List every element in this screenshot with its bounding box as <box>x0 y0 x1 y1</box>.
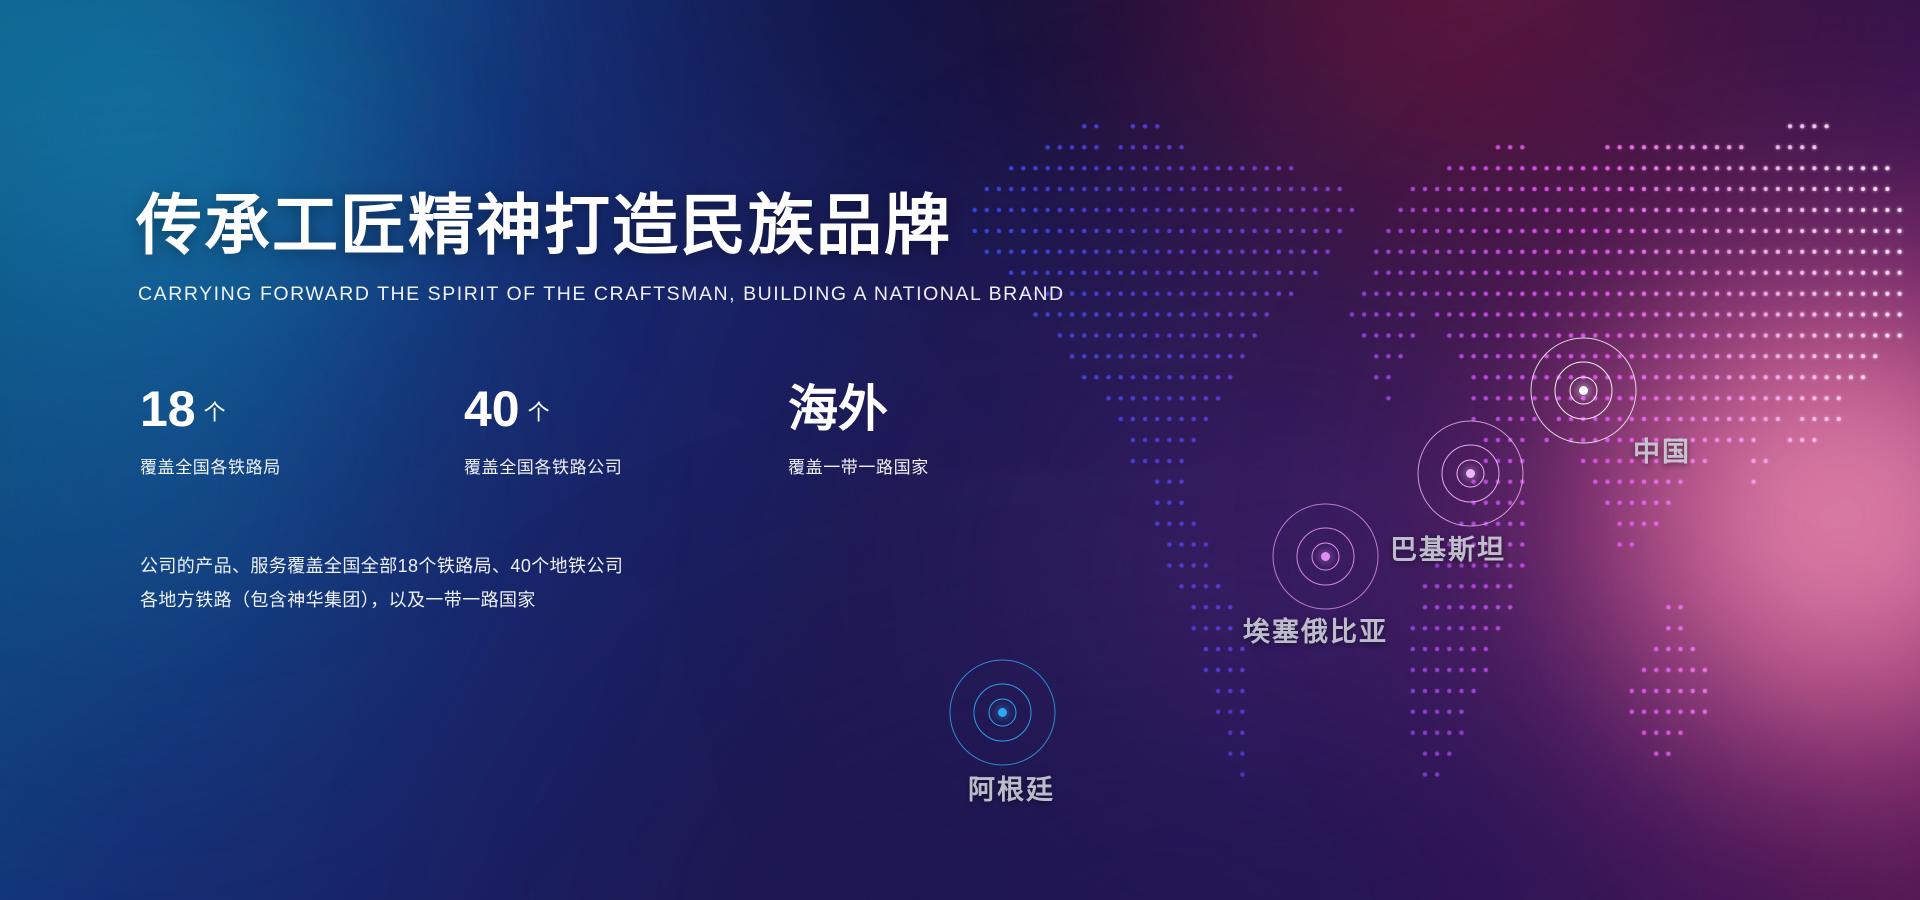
page-subtitle: CARRYING FORWARD THE SPIRIT OF THE CRAFT… <box>138 283 996 306</box>
stat-item: 海外 覆盖一带一路国家 <box>788 384 929 478</box>
stat-unit: 个 <box>528 395 550 427</box>
stat-value-group: 40 个 <box>464 384 694 438</box>
map-marker-label-pakistan: 巴基斯坦 <box>1390 528 1506 567</box>
stat-value: 海外 <box>788 384 888 434</box>
map-marker-label-china: 中国 <box>1633 430 1691 469</box>
stats-row: 18 个 覆盖全国各铁路局 40 个 覆盖全国各铁路公司 海外 覆盖一带一路国家 <box>140 384 996 478</box>
stat-item: 18 个 覆盖全国各铁路局 <box>140 384 370 478</box>
stat-value-group: 海外 <box>788 384 929 438</box>
description-block: 公司的产品、服务覆盖全国全部18个铁路局、40个地铁公司 各地方铁路（包含神华集… <box>140 550 996 617</box>
map-marker-label-ethiopia: 埃塞俄比亚 <box>1243 610 1388 649</box>
stat-value-group: 18 个 <box>140 384 370 438</box>
stat-value: 18 <box>140 384 196 434</box>
stat-unit: 个 <box>204 395 226 427</box>
banner-content: 传承工匠精神打造民族品牌 CARRYING FORWARD THE SPIRIT… <box>136 190 996 617</box>
map-marker-label-argentina: 阿根廷 <box>968 768 1055 807</box>
stat-item: 40 个 覆盖全国各铁路公司 <box>464 384 694 478</box>
description-line-2: 各地方铁路（包含神华集团），以及一带一路国家 <box>140 584 996 617</box>
stat-label: 覆盖一带一路国家 <box>788 453 929 478</box>
stat-value: 40 <box>464 384 520 434</box>
page-title: 传承工匠精神打造民族品牌 <box>136 190 996 261</box>
promo-banner: 中国巴基斯坦埃塞俄比亚阿根廷 传承工匠精神打造民族品牌 CARRYING FOR… <box>0 0 1920 900</box>
stat-label: 覆盖全国各铁路公司 <box>464 453 694 478</box>
description-line-1: 公司的产品、服务覆盖全国全部18个铁路局、40个地铁公司 <box>140 550 996 583</box>
stat-label: 覆盖全国各铁路局 <box>140 453 370 478</box>
